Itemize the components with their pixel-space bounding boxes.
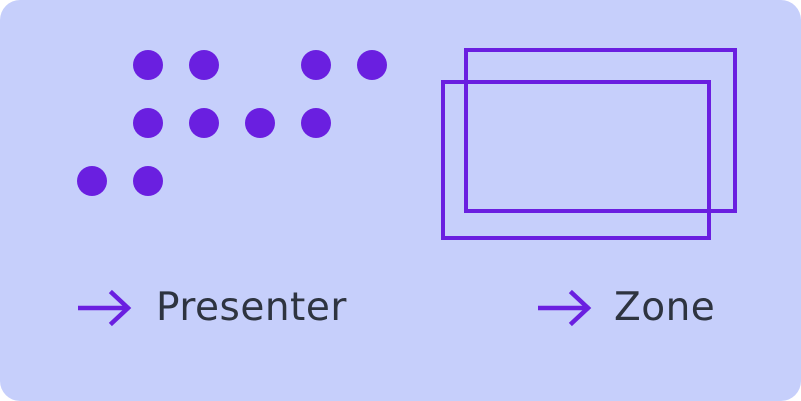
legend-item-presenter: Presenter <box>78 288 347 327</box>
legend-item-zone: Zone <box>538 288 715 327</box>
diagram-card: Presenter Zone <box>0 0 801 401</box>
zone-rectangles <box>0 0 801 401</box>
zone-rect-front <box>443 82 709 238</box>
arrow-right-icon <box>538 289 594 327</box>
zone-rect-back <box>466 50 735 211</box>
legend-label-zone: Zone <box>614 288 715 327</box>
arrow-right-icon <box>78 289 134 327</box>
legend-label-presenter: Presenter <box>156 288 347 327</box>
